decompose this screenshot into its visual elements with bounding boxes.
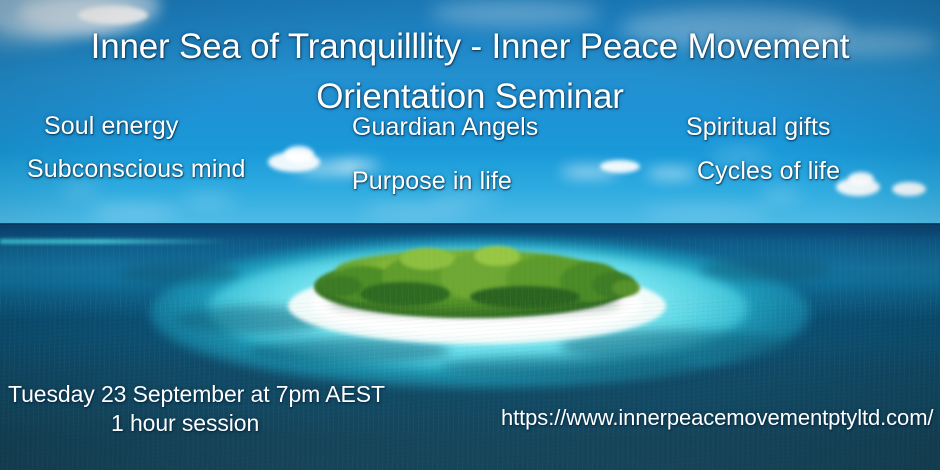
horizon-band [0, 224, 940, 239]
tree-cluster [474, 246, 520, 266]
topic-subconscious-mind: Subconscious mind [27, 155, 246, 184]
tree-cluster [470, 286, 580, 308]
tree-cluster [360, 282, 450, 306]
topic-soul-energy: Soul energy [44, 112, 179, 141]
event-datetime: Tuesday 23 September at 7pm AEST [8, 381, 385, 408]
event-duration: 1 hour session [111, 410, 259, 437]
event-banner: Inner Sea of Tranquilllity - Inner Peace… [0, 0, 940, 470]
topic-spiritual-gifts: Spiritual gifts [686, 113, 831, 142]
tree-cluster [322, 276, 362, 296]
coral-patch [120, 262, 240, 284]
topic-purpose-in-life: Purpose in life [352, 167, 512, 196]
topic-cycles-of-life: Cycles of life [697, 157, 840, 186]
banner-title: Inner Sea of Tranquilllity - Inner Peace… [0, 22, 940, 122]
tree-cluster [400, 248, 454, 270]
tree-cluster [612, 280, 640, 296]
event-website-url[interactable]: https://www.innerpeacemovementptyltd.com… [501, 405, 933, 431]
coral-patch [700, 258, 830, 282]
horizon-line [0, 223, 940, 225]
coral-patch [440, 356, 700, 378]
distant-reef [0, 239, 230, 244]
banner-title-line-1: Inner Sea of Tranquilllity - Inner Peace… [0, 22, 940, 72]
topic-guardian-angels: Guardian Angels [352, 113, 538, 142]
